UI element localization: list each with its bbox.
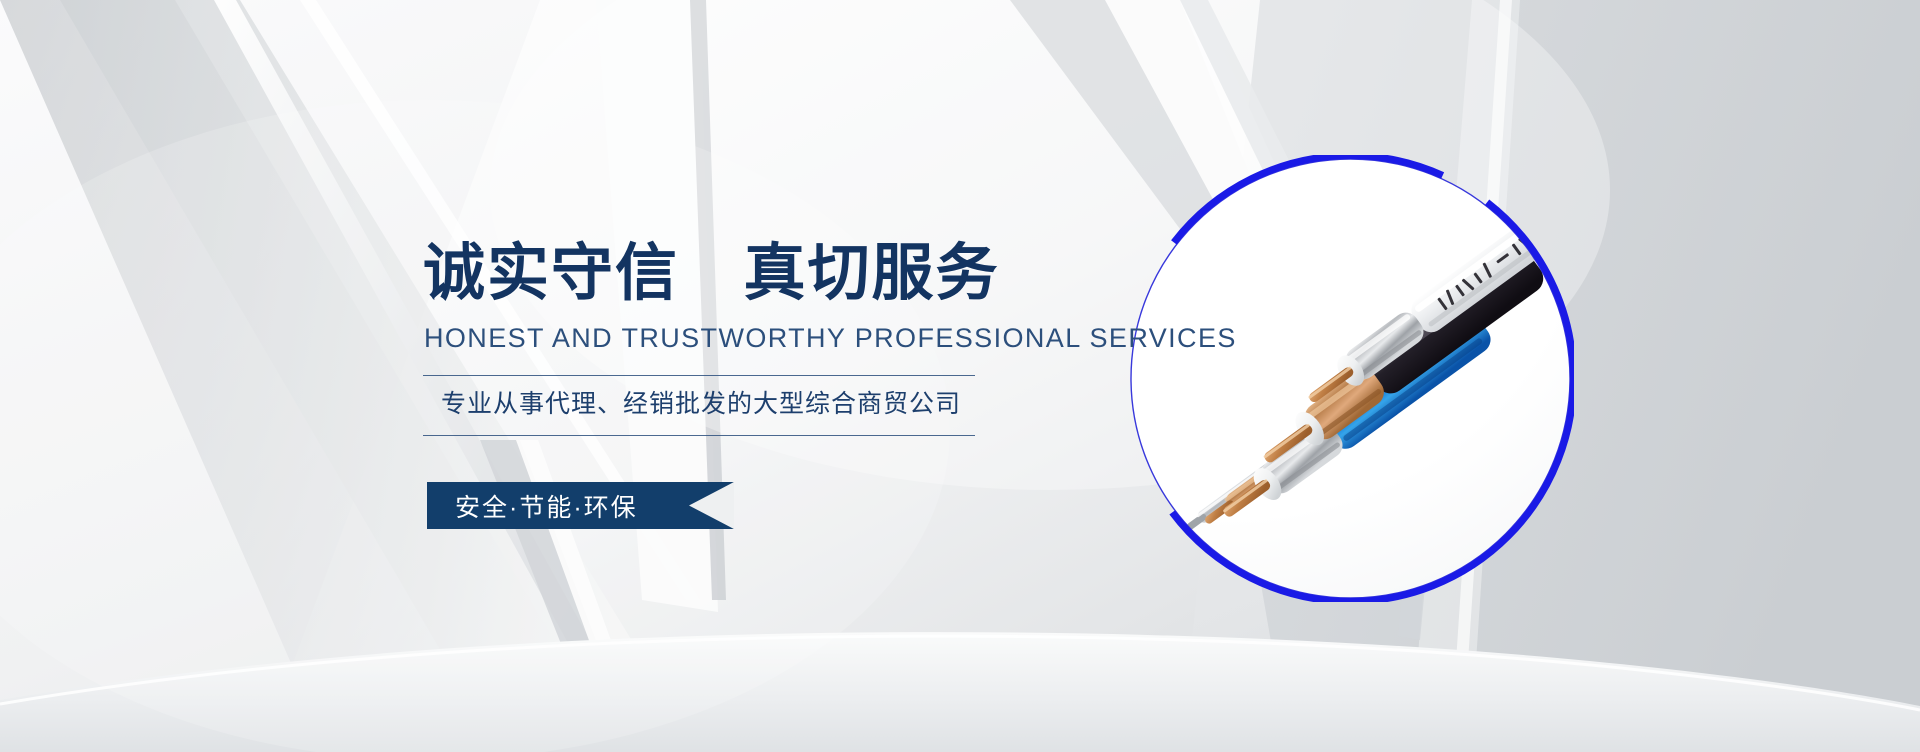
page-title: 诚实守信 真切服务 [423,243,1000,305]
headline-part-1: 诚实守信 [423,239,679,308]
page-subtitle: HONEST AND TRUSTWORTHY PROFESSIONAL SERV… [424,325,1237,352]
tagline-block: 专业从事代理、经销批发的大型综合商贸公司 [423,375,975,436]
status-badge-label: 安全·节能·环保 [455,482,638,529]
product-medallion [1127,155,1574,602]
divider-bottom [423,435,975,436]
promo-banner: 诚实守信 真切服务 HONEST AND TRUSTWORTHY PROFESS… [0,0,1920,752]
tagline-text: 专业从事代理、经销批发的大型综合商贸公司 [423,376,975,435]
circle-arc-icon [1127,155,1574,602]
divider-top [423,375,975,376]
banner-copy: 诚实守信 真切服务 HONEST AND TRUSTWORTHY PROFESS… [0,0,1100,752]
headline-part-2: 真切服务 [743,239,999,308]
